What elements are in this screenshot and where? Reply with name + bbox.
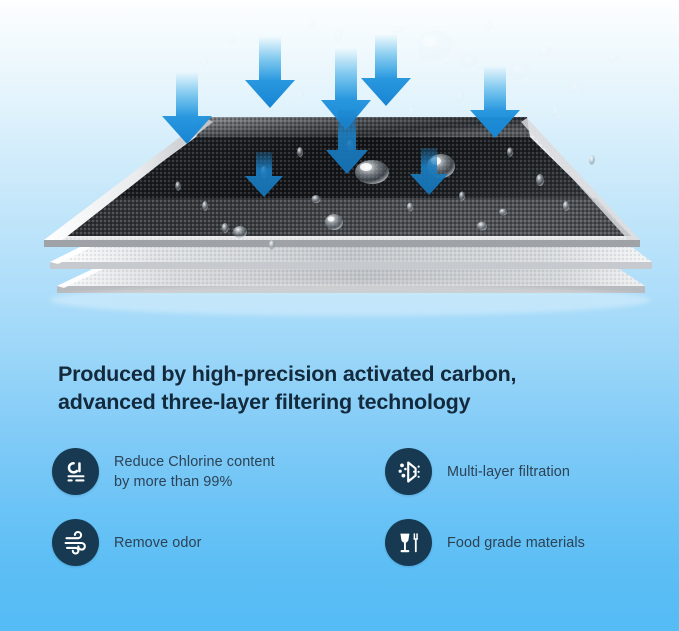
feature-label: Reduce Chlorine content by more than 99% (114, 452, 275, 492)
flow-arrow (245, 36, 295, 108)
background-water-droplets (178, 18, 620, 126)
page-title: Produced by high-precision activated car… (58, 360, 638, 416)
feature-label: Remove odor (114, 533, 202, 553)
feature-label-line-1: Food grade materials (447, 535, 585, 551)
feature-label: Multi-layer filtration (447, 462, 570, 482)
headline-line-1: Produced by high-precision activated car… (58, 362, 516, 386)
feature-label: Food grade materials (447, 533, 585, 553)
feature-label-line-1: Remove odor (114, 535, 202, 551)
three-layer-filter-illustration (0, 0, 679, 330)
flow-arrow (361, 34, 411, 106)
wind-odor-icon (52, 519, 99, 566)
feature-item-food-grade-materials[interactable]: Food grade materials (385, 519, 652, 566)
multi-layer-filter-icon (385, 448, 432, 495)
feature-list: Reduce Chlorine content by more than 99% (52, 448, 652, 590)
feature-item-reduce-chlorine[interactable]: Reduce Chlorine content by more than 99% (52, 448, 385, 495)
stack-glow (50, 284, 650, 316)
feature-row: Reduce Chlorine content by more than 99% (52, 448, 652, 495)
chlorine-cl-icon (52, 448, 99, 495)
feature-label-line-1: Reduce Chlorine content (114, 454, 275, 470)
product-infographic: Produced by high-precision activated car… (0, 0, 679, 631)
headline-line-2: advanced three-layer filtering technolog… (58, 388, 638, 416)
feature-item-multi-layer-filtration[interactable]: Multi-layer filtration (385, 448, 652, 495)
glass-fork-food-safe-icon (385, 519, 432, 566)
feature-row: Remove odor (52, 519, 652, 566)
feature-item-remove-odor[interactable]: Remove odor (52, 519, 385, 566)
feature-label-line-1: Multi-layer filtration (447, 464, 570, 480)
filter-stack-graphic (0, 0, 679, 330)
feature-label-line-2: by more than 99% (114, 472, 275, 492)
